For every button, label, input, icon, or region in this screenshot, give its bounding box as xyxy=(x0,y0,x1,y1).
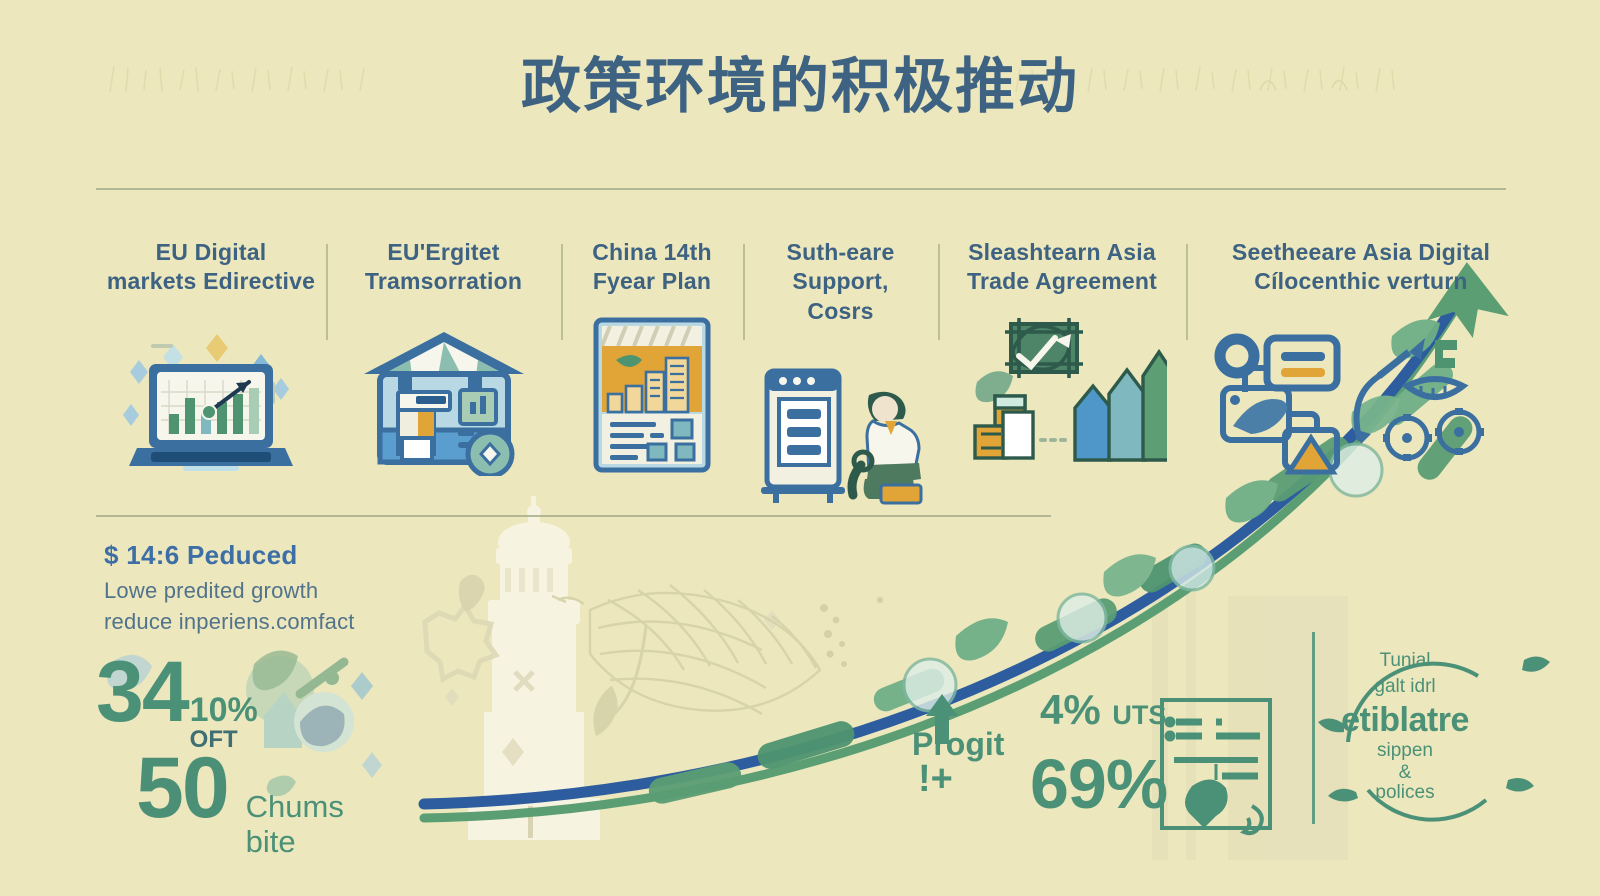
policy-support-badge: Tunial galt idrl etiblatre sippen & poli… xyxy=(1310,632,1500,822)
digital-network-icon xyxy=(1211,311,1511,476)
policy-category-strip: EU Digital markets Edirective xyxy=(96,238,1506,488)
badge-line-3: sippen xyxy=(1310,740,1500,762)
growth-arrows-icon xyxy=(957,311,1167,476)
impact-headline: $ 14:6 Peduced xyxy=(104,540,524,571)
page-title: 政策环境的积极推动 xyxy=(0,52,1600,121)
category-label: China 14th Fyear Plan xyxy=(592,238,712,297)
stat-50-row: 50 Chums bite xyxy=(136,750,344,859)
badge-line-2: galt idrl xyxy=(1310,676,1500,698)
category-label: EU Digital markets Edirective xyxy=(107,238,315,297)
badge-strong-text: etiblatre xyxy=(1310,700,1500,740)
header-divider xyxy=(96,188,1506,190)
storefront-icon xyxy=(358,311,530,476)
stat-69-percent: 69% xyxy=(1030,744,1167,824)
stat-34-value: 34 xyxy=(96,654,188,731)
badge-line-5: polices xyxy=(1310,782,1500,804)
progit-mark: !+ xyxy=(918,758,953,801)
badge-leaf-topright xyxy=(1522,656,1550,671)
seal-ribbon xyxy=(1244,806,1262,833)
category-eu-digital-markets[interactable]: EU Digital markets Edirective xyxy=(96,238,326,476)
category-china-14th-plan[interactable]: China 14th Fyear Plan xyxy=(561,238,743,476)
category-asia-digital[interactable]: Seetheeare Asia Digital Cílocenthic vert… xyxy=(1186,238,1536,476)
stat-50-label: Chums bite xyxy=(246,790,344,859)
infographic-canvas: 政策环境的积极推动 xyxy=(0,0,1600,896)
kiosk-person-icon xyxy=(757,340,925,505)
category-label: Sleashtearn Asia Trade Agreement xyxy=(967,238,1157,297)
stat-4-percent-value: 4% xyxy=(1040,686,1101,733)
stat-34-row: 34 10% OFT xyxy=(96,654,258,753)
category-eu-transformation[interactable]: EU'Ergitet Tramsorration xyxy=(326,238,561,476)
category-support-costs[interactable]: Suth-eare Support, Cosrs xyxy=(743,238,938,505)
stat-34-percent: 10% xyxy=(190,691,258,729)
impact-summary-block: $ 14:6 Peduced Lowe predited growth redu… xyxy=(104,540,524,637)
category-label: EU'Ergitet Tramsorration xyxy=(365,238,522,297)
section-divider xyxy=(96,515,1051,517)
stat-50-value: 50 xyxy=(136,750,228,827)
impact-line-2: reduce inperiens.comfact xyxy=(104,606,524,637)
certificate-icon xyxy=(1162,700,1270,828)
category-label: Suth-eare Support, Cosrs xyxy=(787,238,895,326)
laptop-chart-icon xyxy=(121,311,301,476)
category-asia-trade-agreement[interactable]: Sleashtearn Asia Trade Agreement xyxy=(938,238,1186,476)
certificate-seal xyxy=(1185,779,1228,828)
policy-document-icon xyxy=(590,311,714,476)
category-label: Seetheeare Asia Digital Cílocenthic vert… xyxy=(1232,238,1490,297)
net-watermark xyxy=(552,585,820,736)
stat-4-percent: 4% UTS xyxy=(1040,686,1166,734)
impact-line-1: Lowe predited growth xyxy=(104,575,524,606)
seated-person xyxy=(852,392,921,503)
badge-line-1: Tunial xyxy=(1310,650,1500,672)
badge-leaf-bottomright xyxy=(1506,778,1534,792)
net-dots-watermark xyxy=(820,597,883,667)
stat-4-percent-unit: UTS xyxy=(1112,700,1166,730)
